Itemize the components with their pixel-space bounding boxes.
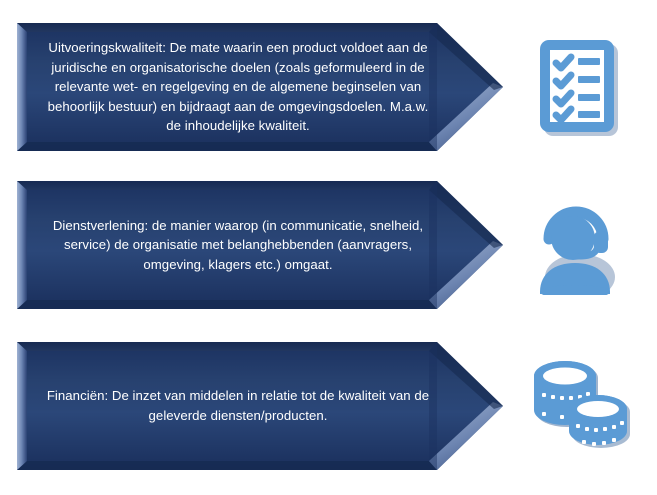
coin-stacks-icon <box>526 354 630 458</box>
clipboard-checklist-icon <box>535 35 621 139</box>
arrow-shape-uitvoeringskwaliteit[interactable]: Uitvoeringskwaliteit: De mate waarin een… <box>17 23 503 151</box>
arrow-text-container: Financiën: De inzet van middelen in rela… <box>39 342 437 470</box>
diagram-row-financien: Financiën: De inzet van middelen in rela… <box>0 342 657 470</box>
arrow-shape-financien[interactable]: Financiën: De inzet van middelen in rela… <box>17 342 503 470</box>
arrow-text-container: Dienstverlening: de manier waarop (in co… <box>39 181 437 309</box>
headset-support-agent-icon <box>530 195 626 295</box>
arrow-label-financien: Financiën: De inzet van middelen in rela… <box>43 386 433 425</box>
arrow-label-uitvoeringskwaliteit: Uitvoeringskwaliteit: De mate waarin een… <box>43 38 433 136</box>
arrow-text-container: Uitvoeringskwaliteit: De mate waarin een… <box>39 23 437 151</box>
icon-headset-support-agent-icon <box>513 181 643 309</box>
arrow-label-dienstverlening: Dienstverlening: de manier waarop (in co… <box>43 216 433 275</box>
icon-coin-stacks-icon <box>513 342 643 470</box>
icon-clipboard-checklist-icon <box>513 23 643 151</box>
diagram-canvas: Uitvoeringskwaliteit: De mate waarin een… <box>0 0 657 495</box>
diagram-row-uitvoeringskwaliteit: Uitvoeringskwaliteit: De mate waarin een… <box>0 23 657 151</box>
diagram-row-dienstverlening: Dienstverlening: de manier waarop (in co… <box>0 181 657 309</box>
arrow-shape-dienstverlening[interactable]: Dienstverlening: de manier waarop (in co… <box>17 181 503 309</box>
